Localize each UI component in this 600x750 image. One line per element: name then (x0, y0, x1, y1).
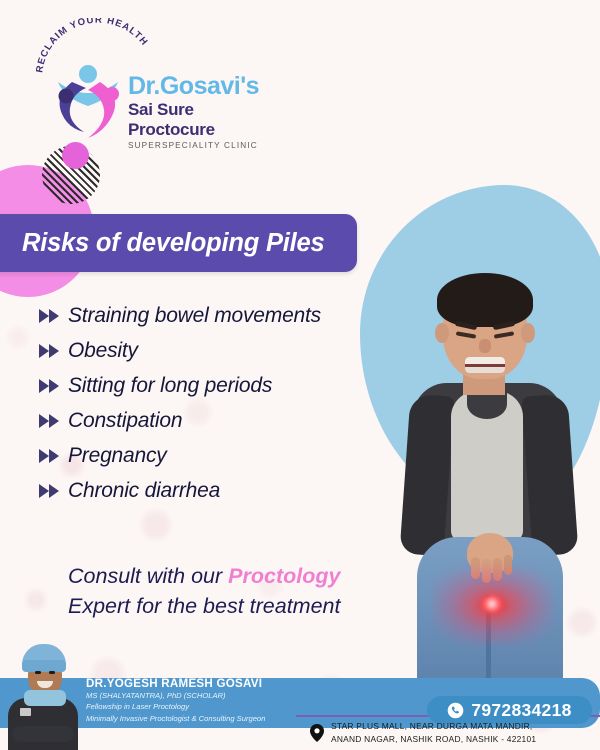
consult-line2: Expert for the best treatment (68, 592, 428, 622)
doctor-portrait (2, 640, 80, 750)
location-pin-icon (310, 724, 324, 742)
address-line-1: STAR PLUS MALL, NEAR DURGA MATA MANDIR, (331, 720, 536, 733)
doctor-details: DR.YOGESH RAMESH GOSAVI MS (SHALYATANTRA… (86, 677, 301, 724)
logo-name-primary: Dr.Gosavi's (128, 74, 278, 99)
patient-photo (385, 265, 600, 685)
list-item: Pregnancy (38, 438, 398, 473)
risk-label: Sitting for long periods (68, 374, 272, 398)
consult-callout: Consult with our Proctology Expert for t… (68, 562, 428, 621)
pain-hotspot (481, 595, 503, 613)
list-item: Constipation (38, 403, 398, 438)
risk-label: Pregnancy (68, 444, 167, 468)
risk-label: Obesity (68, 339, 138, 363)
risk-label: Chronic diarrhea (68, 479, 220, 503)
list-item: Chronic diarrhea (38, 473, 398, 508)
double-chevron-icon (38, 343, 62, 359)
people-logo-icon (42, 52, 134, 144)
list-item: Straining bowel movements (38, 298, 398, 333)
double-chevron-icon (38, 483, 62, 499)
small-pink-circle-decoration (62, 142, 89, 169)
logo-subtitle: SUPERSPECIALITY CLINIC (128, 141, 278, 150)
address-line-2: ANAND NAGAR, NASHIK ROAD, NASHIK - 42210… (331, 733, 536, 746)
logo-name-secondary: Sai Sure Proctocure (128, 100, 278, 139)
double-chevron-icon (38, 308, 62, 324)
risk-label: Constipation (68, 409, 182, 433)
double-chevron-icon (38, 448, 62, 464)
doctor-credential-1: MS (SHALYATANTRA), PhD (SCHOLAR) (86, 691, 301, 701)
risk-factor-list: Straining bowel movements Obesity Sittin… (38, 298, 398, 508)
consult-prefix: Consult with our (68, 564, 228, 588)
risk-label: Straining bowel movements (68, 304, 321, 328)
clinic-logo: RECLAIM YOUR HEALTH Dr.Gosavi's Sai Sure… (36, 18, 266, 138)
doctor-name: DR.YOGESH RAMESH GOSAVI (86, 677, 301, 690)
headline-banner: Risks of developing Piles (0, 214, 357, 272)
list-item: Sitting for long periods (38, 368, 398, 403)
consult-highlight: Proctology (228, 564, 340, 588)
doctor-credential-3: Minimally Invasive Proctologist & Consul… (86, 714, 301, 724)
doctor-credential-2: Fellowship in Laser Proctology (86, 702, 301, 712)
double-chevron-icon (38, 413, 62, 429)
list-item: Obesity (38, 333, 398, 368)
page-title: Risks of developing Piles (22, 229, 325, 258)
double-chevron-icon (38, 378, 62, 394)
address-block: STAR PLUS MALL, NEAR DURGA MATA MANDIR, … (300, 716, 600, 750)
